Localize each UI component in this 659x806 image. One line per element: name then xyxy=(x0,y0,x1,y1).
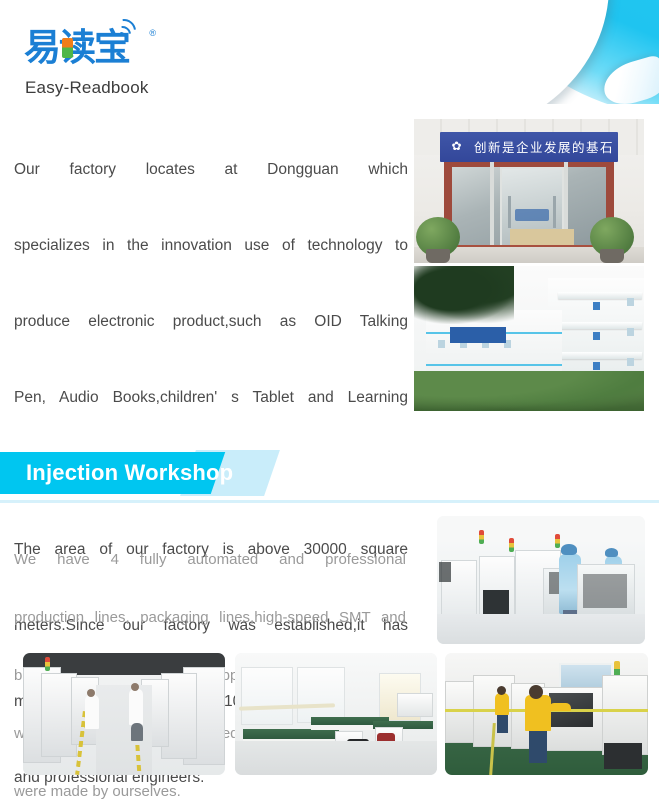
photo-qc-lab xyxy=(235,653,437,775)
photo-factory-building xyxy=(414,266,644,411)
wifi-arcs-icon xyxy=(114,18,140,42)
about-line-1: Our factory locates at Dongguan which xyxy=(14,113,408,227)
logo-accent-block xyxy=(62,38,73,58)
about-line-3: produce electronic product,such as OID T… xyxy=(14,303,408,379)
page-curl-lip xyxy=(599,54,659,104)
page-curl-decoration xyxy=(499,0,659,104)
section-divider xyxy=(0,500,659,503)
about-line-4: Pen, Audio Books,children' s Tablet and … xyxy=(14,379,408,455)
logo-latin-text: Easy-Readbook xyxy=(25,78,149,98)
signboard-text: 创新是企业发展的基石 xyxy=(474,137,614,156)
section-banner-injection-workshop: Injection Workshop xyxy=(0,452,290,494)
photo-smt-line xyxy=(23,653,225,775)
about-line-2: specializes in the innovation use of tec… xyxy=(14,227,408,303)
photo-smt-operators xyxy=(445,653,648,775)
workshop-line-5: were made by ourselves. xyxy=(14,777,406,806)
page-curl-icon xyxy=(499,0,659,104)
photo-factory-entrance: ✿ 创新是企业发展的基石 xyxy=(414,119,644,263)
section-title: Injection Workshop xyxy=(26,452,233,494)
registered-mark: ® xyxy=(149,28,156,38)
entrance-signboard: ✿ 创新是企业发展的基石 xyxy=(440,132,618,162)
company-badge-icon: ✿ xyxy=(448,138,465,155)
brand-logo[interactable]: 易读宝 ® Easy-Readbook xyxy=(24,24,156,102)
workshop-line-1: We have 4 fully automated and profession… xyxy=(14,516,406,603)
easy-readbook-logo-icon: 易读宝 ® xyxy=(24,24,150,76)
page-curl-underside xyxy=(499,0,609,104)
photo-cleanroom xyxy=(437,516,645,644)
